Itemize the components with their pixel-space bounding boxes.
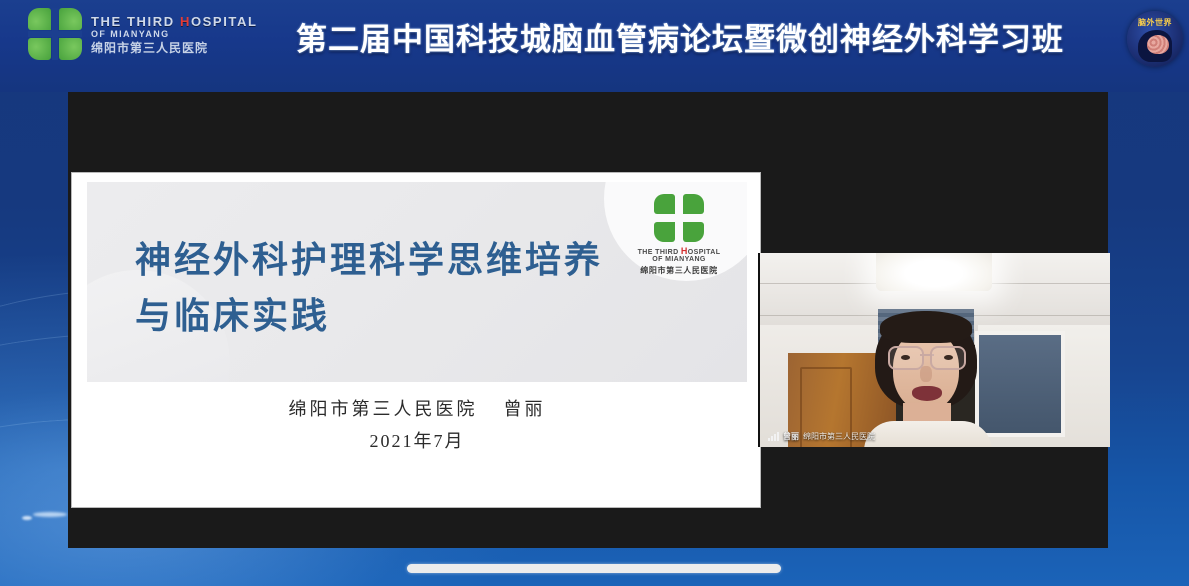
presenter-name: 曾丽 bbox=[504, 399, 546, 419]
progress-bar-fill[interactable] bbox=[407, 564, 781, 573]
event-title: 第二届中国科技城脑血管病论坛暨微创神经外科学习班 bbox=[296, 14, 1126, 59]
speaker-glasses bbox=[888, 346, 966, 366]
slide-logo-line1-post: OSPITAL bbox=[688, 249, 721, 256]
webcam-name-overlay: 曾丽 绵阳市第三人民医院 bbox=[768, 431, 875, 442]
slide-presenter-line: 绵阳市第三人民医院曾丽 bbox=[72, 395, 761, 421]
hospital-logo-line3: 绵阳市第三人民医院 bbox=[91, 42, 258, 54]
slide-title: 神经外科护理科学思维培养与临床实践 bbox=[135, 232, 635, 344]
hospital-logo-line1-pre: THE THIRD bbox=[91, 14, 180, 29]
presenter-org: 绵阳市第三人民医院 bbox=[289, 399, 478, 419]
webcam-speaker-org: 绵阳市第三人民医院 bbox=[803, 431, 875, 442]
wallpaper-glint bbox=[33, 512, 67, 517]
head-brain-icon: 脑外世界 bbox=[1127, 11, 1183, 67]
hospital-logo-line1-post: OSPITAL bbox=[191, 14, 258, 29]
screen: THE THIRD HOSPITAL OF MIANYANG 绵阳市第三人民医院… bbox=[0, 0, 1189, 586]
hospital-logo-line2: OF MIANYANG bbox=[91, 30, 258, 39]
speaker-fringe bbox=[880, 311, 972, 343]
room-window bbox=[975, 331, 1065, 437]
speaker-mouth bbox=[912, 386, 942, 401]
hospital-logo-line1-h: H bbox=[180, 14, 191, 29]
slide-hospital-logo: THE THIRD HOSPITAL OF MIANYANG 绵阳市第三人民医院 bbox=[633, 194, 725, 276]
speaker-nose bbox=[920, 366, 932, 382]
hospital-logo-line1: THE THIRD HOSPITAL bbox=[91, 15, 258, 28]
event-banner: THE THIRD HOSPITAL OF MIANYANG 绵阳市第三人民医院… bbox=[0, 0, 1189, 92]
progress-bar-track[interactable] bbox=[407, 564, 781, 573]
hospital-logo: THE THIRD HOSPITAL OF MIANYANG 绵阳市第三人民医院 bbox=[28, 8, 258, 60]
slide-logo-line1-pre: THE THIRD bbox=[638, 249, 681, 256]
webcam-pip[interactable]: 曾丽 绵阳市第三人民医院 bbox=[758, 253, 1110, 447]
signal-bars-icon bbox=[768, 433, 779, 441]
webcam-speaker-name: 曾丽 bbox=[783, 431, 799, 442]
badge-label: 脑外世界 bbox=[1127, 17, 1183, 28]
slide-logo-line2: OF MIANYANG bbox=[633, 256, 725, 263]
slide-logo-line1-h: H bbox=[681, 246, 688, 256]
ceiling-light bbox=[876, 253, 992, 291]
video-player[interactable]: 神经外科护理科学思维培养与临床实践 THE THIRD HOSPITAL OF … bbox=[68, 92, 1108, 548]
slide-date: 2021年7月 bbox=[72, 427, 761, 453]
wallpaper-glint bbox=[22, 516, 32, 520]
slide-logo-line3: 绵阳市第三人民医院 bbox=[633, 265, 725, 276]
hospital-brain-cross-logo-icon bbox=[28, 8, 82, 60]
slide-title-block: 神经外科护理科学思维培养与临床实践 THE THIRD HOSPITAL OF … bbox=[87, 182, 747, 382]
presentation-slide: 神经外科护理科学思维培养与临床实践 THE THIRD HOSPITAL OF … bbox=[71, 172, 761, 508]
hospital-brain-cross-logo-icon bbox=[654, 194, 704, 242]
hospital-logo-text: THE THIRD HOSPITAL OF MIANYANG 绵阳市第三人民医院 bbox=[91, 15, 258, 54]
speaker-torso bbox=[864, 421, 992, 447]
brain-shape bbox=[1147, 35, 1169, 54]
slide-logo-line1: THE THIRD HOSPITAL bbox=[633, 246, 725, 256]
